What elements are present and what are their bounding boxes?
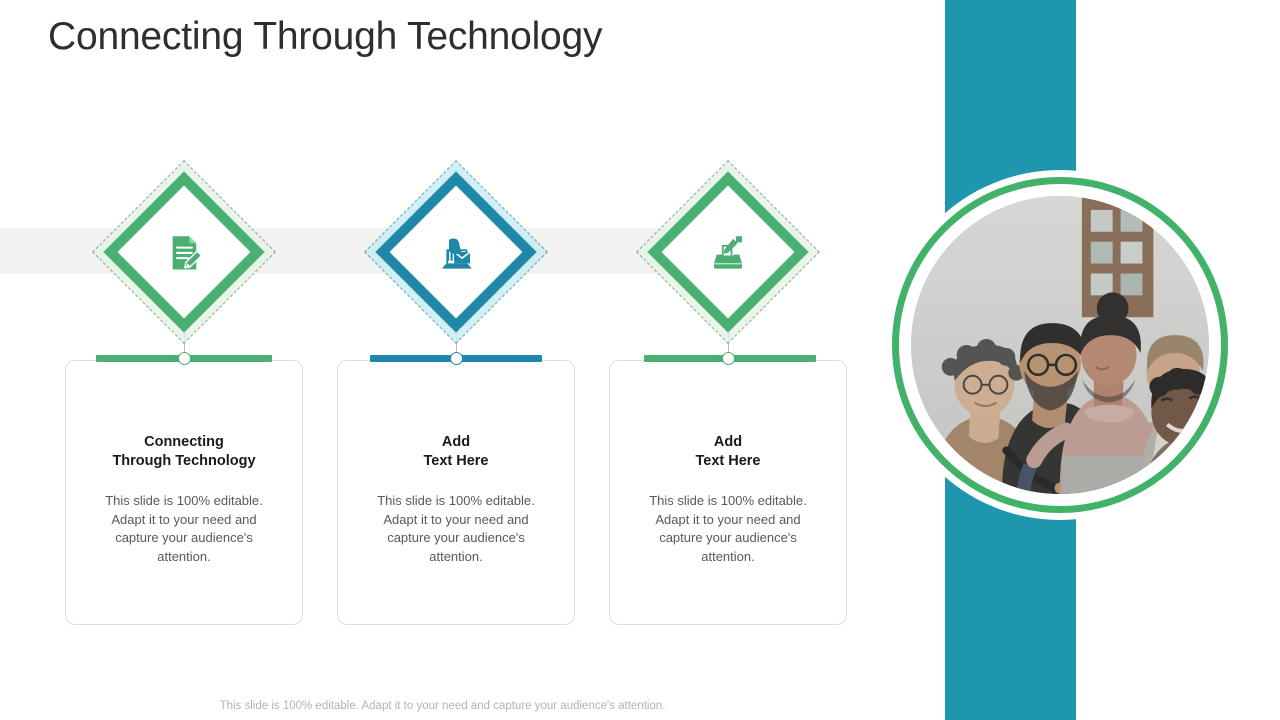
step-3-body: This slide is 100% editable. Adapt it to… xyxy=(644,492,812,566)
step-3-node xyxy=(722,352,735,365)
ballot-box-icon xyxy=(658,182,798,322)
step-2-heading: Add Text Here xyxy=(338,433,574,471)
step-2-card[interactable]: Add Text Here This slide is 100% editabl… xyxy=(337,360,575,625)
step-1-body: This slide is 100% editable. Adapt it to… xyxy=(100,492,268,566)
step-3-diamond[interactable] xyxy=(658,182,798,322)
photo-image xyxy=(911,196,1209,494)
page-title: Connecting Through Technology xyxy=(48,14,602,60)
hand-envelope-laptop-icon xyxy=(386,182,526,322)
photo-green-ring xyxy=(892,177,1228,513)
step-3-heading: Add Text Here xyxy=(610,433,846,471)
team-photo xyxy=(885,170,1235,520)
step-3-card[interactable]: Add Text Here This slide is 100% editabl… xyxy=(609,360,847,625)
step-2-body: This slide is 100% editable. Adapt it to… xyxy=(372,492,540,566)
document-pen-icon xyxy=(114,182,254,322)
footer-note: This slide is 100% editable. Adapt it to… xyxy=(0,700,1280,712)
step-1-heading: Connecting Through Technology xyxy=(66,433,302,471)
footer-note-text: This slide is 100% editable. Adapt it to… xyxy=(220,700,1061,712)
step-1-node xyxy=(178,352,191,365)
step-1-card[interactable]: Connecting Through Technology This slide… xyxy=(65,360,303,625)
step-2-diamond[interactable] xyxy=(386,182,526,322)
step-1-diamond[interactable] xyxy=(114,182,254,322)
step-2-node xyxy=(450,352,463,365)
